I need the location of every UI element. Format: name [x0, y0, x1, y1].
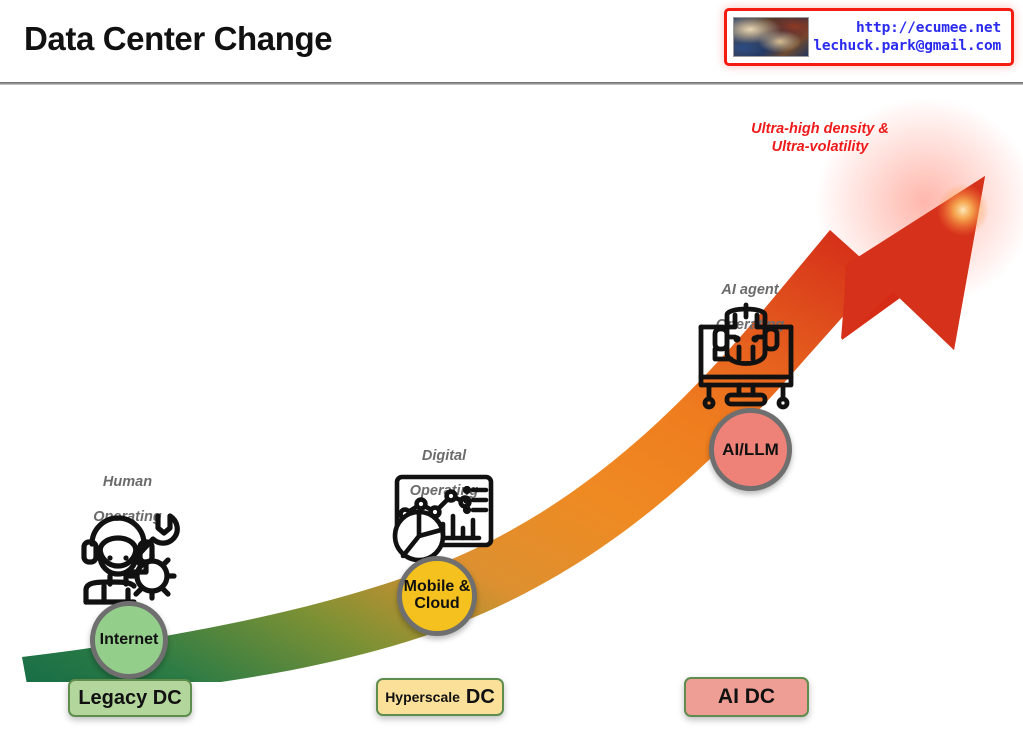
photo-thumbnail-icon [733, 17, 809, 57]
slide-canvas: Data Center Change http://ecumee.net lec… [0, 0, 1023, 729]
node-ai-llm-label: AI/LLM [722, 441, 779, 459]
ai-robot-monitor-icon [687, 301, 805, 413]
contact-url[interactable]: http://ecumee.net [809, 19, 1001, 37]
caption-line1: Human [55, 474, 200, 492]
page-title: Data Center Change [24, 20, 332, 58]
node-internet-label: Internet [100, 632, 159, 649]
node-internet[interactable]: Internet [90, 601, 168, 679]
contact-email[interactable]: lechuck.park@gmail.com [809, 37, 1001, 55]
dc-label-hyperscale[interactable]: HyperscaleDC [376, 678, 504, 716]
support-agent-gear-icon [72, 494, 190, 606]
contact-badge-text: http://ecumee.net lechuck.park@gmail.com [809, 19, 1005, 55]
caption-line1: Digital [370, 448, 518, 466]
dc-label-legacy[interactable]: Legacy DC [68, 679, 192, 717]
risk-annotation-line2: Ultra-volatility [722, 138, 918, 156]
node-mobile-cloud[interactable]: Mobile &Cloud [397, 556, 477, 636]
contact-badge[interactable]: http://ecumee.net lechuck.park@gmail.com [724, 8, 1014, 66]
node-mobile-cloud-label: Mobile &Cloud [404, 579, 471, 613]
dc-label-ai[interactable]: AI DC [684, 677, 809, 717]
node-mobile-cloud-line1: Mobile & [404, 578, 471, 595]
dc-label-hyperscale-small: Hyperscale [385, 689, 460, 705]
node-mobile-cloud-line2: Cloud [414, 595, 459, 612]
risk-annotation-line1: Ultra-high density & [722, 120, 918, 138]
node-ai-llm[interactable]: AI/LLM [709, 408, 792, 491]
analytics-dashboard-icon [387, 472, 497, 564]
dc-label-ai-text: AI DC [718, 685, 775, 709]
risk-annotation: Ultra-high density & Ultra-volatility [722, 120, 918, 156]
caption-line1: AI agent [675, 282, 825, 300]
dc-label-legacy-text: Legacy DC [78, 687, 181, 710]
dc-label-hyperscale-big: DC [466, 686, 495, 709]
